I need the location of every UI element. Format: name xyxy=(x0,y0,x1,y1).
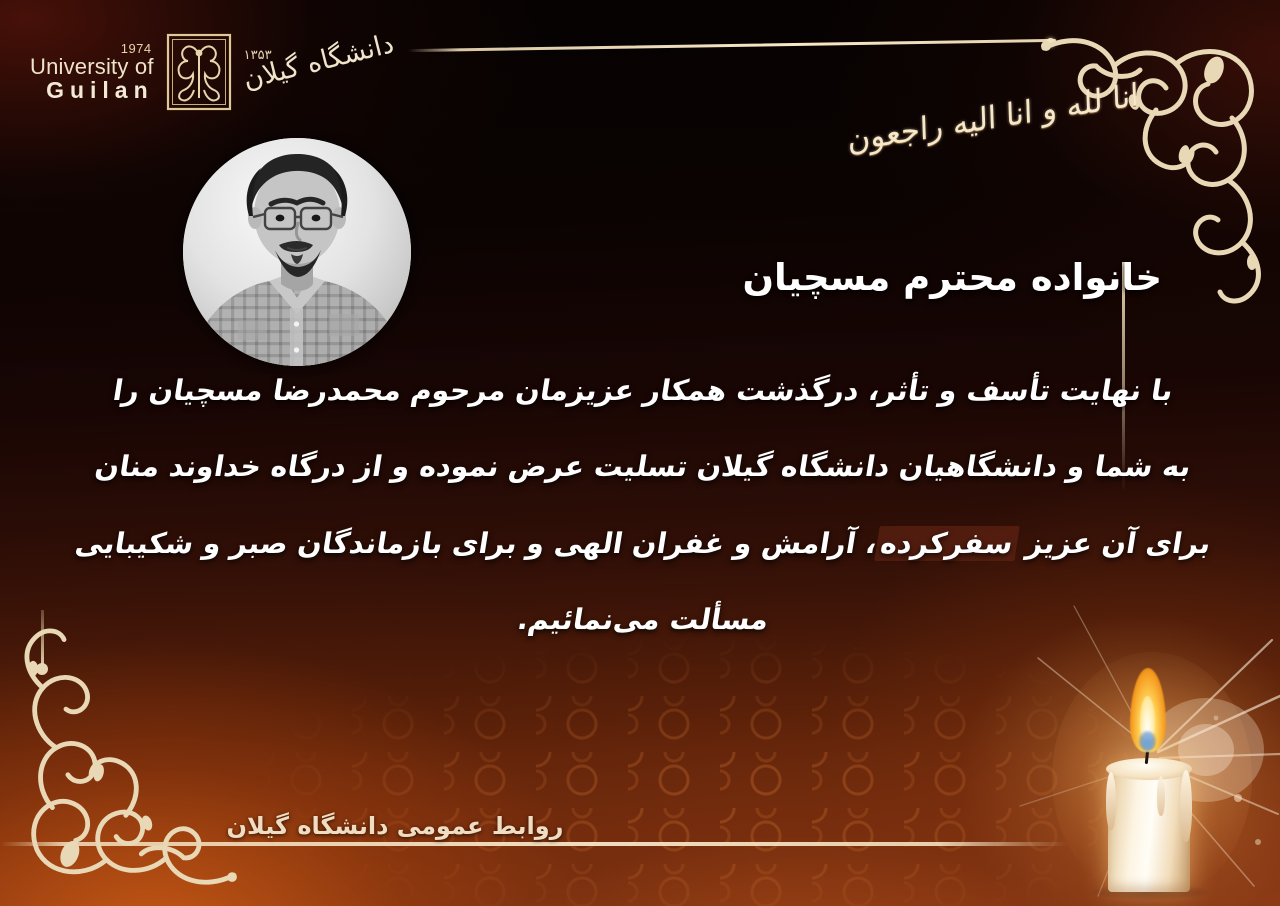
body-line-2: به شما و دانشگاهیان دانشگاه گیلان تسلیت … xyxy=(56,451,1231,482)
candle-body xyxy=(1108,766,1190,892)
body-line-3-part-a: برای آن عزیز xyxy=(1024,527,1213,560)
top-rule-dot xyxy=(1046,38,1055,47)
candle-flame-base xyxy=(1139,731,1156,751)
footer-signature: روابط عمومی دانشگاه گیلان xyxy=(0,812,1035,840)
logo-university-name-persian: دانشگاه گیلان xyxy=(240,30,396,95)
logo-university-word: University of xyxy=(30,55,154,78)
logo-persian: ۱۳۵۳ دانشگاه گیلان xyxy=(244,49,398,95)
bottom-gold-rule xyxy=(0,842,1068,846)
body-line-1: با نهایت تأسف و تأثر، درگذشت همکار عزیزم… xyxy=(56,375,1231,406)
lit-candle-icon xyxy=(1010,600,1280,906)
calligraphy-text: انا لله و انا الیه راجعون xyxy=(847,77,1139,159)
candle-wax-drip xyxy=(1106,772,1116,830)
condolence-body: با نهایت تأسف و تأثر، درگذشت همکار عزیزم… xyxy=(58,375,1228,635)
body-line-3-part-b: ، آرامش و غفران الهی و برای بازماندگان ص… xyxy=(73,527,879,560)
body-line-3-highlight: سفرکرده xyxy=(874,526,1020,561)
condolence-card: 1974 University of Guilan ۱۳۵۳ دانشگاه گ… xyxy=(0,0,1280,906)
left-gold-rule xyxy=(41,610,44,670)
candle-wax-drip xyxy=(1157,776,1165,816)
left-rule-dot xyxy=(36,663,48,675)
candle-wax-drip xyxy=(1180,770,1192,842)
page-title: خانواده محترم مسچیان xyxy=(742,256,1162,299)
body-line-3: برای آن عزیز سفرکرده، آرامش و غفران الهی… xyxy=(56,528,1231,559)
candle-top xyxy=(1106,758,1192,780)
logo-guilan-word: Guilan xyxy=(30,78,154,102)
logo-english: 1974 University of Guilan xyxy=(30,42,154,102)
quranic-calligraphy: انا لله و انا الیه راجعون xyxy=(868,58,1118,178)
guilan-butterfly-emblem-icon xyxy=(164,30,234,114)
deceased-portrait xyxy=(183,138,411,366)
university-logo: 1974 University of Guilan ۱۳۵۳ دانشگاه گ… xyxy=(30,30,398,114)
top-gold-rule xyxy=(408,39,1056,52)
